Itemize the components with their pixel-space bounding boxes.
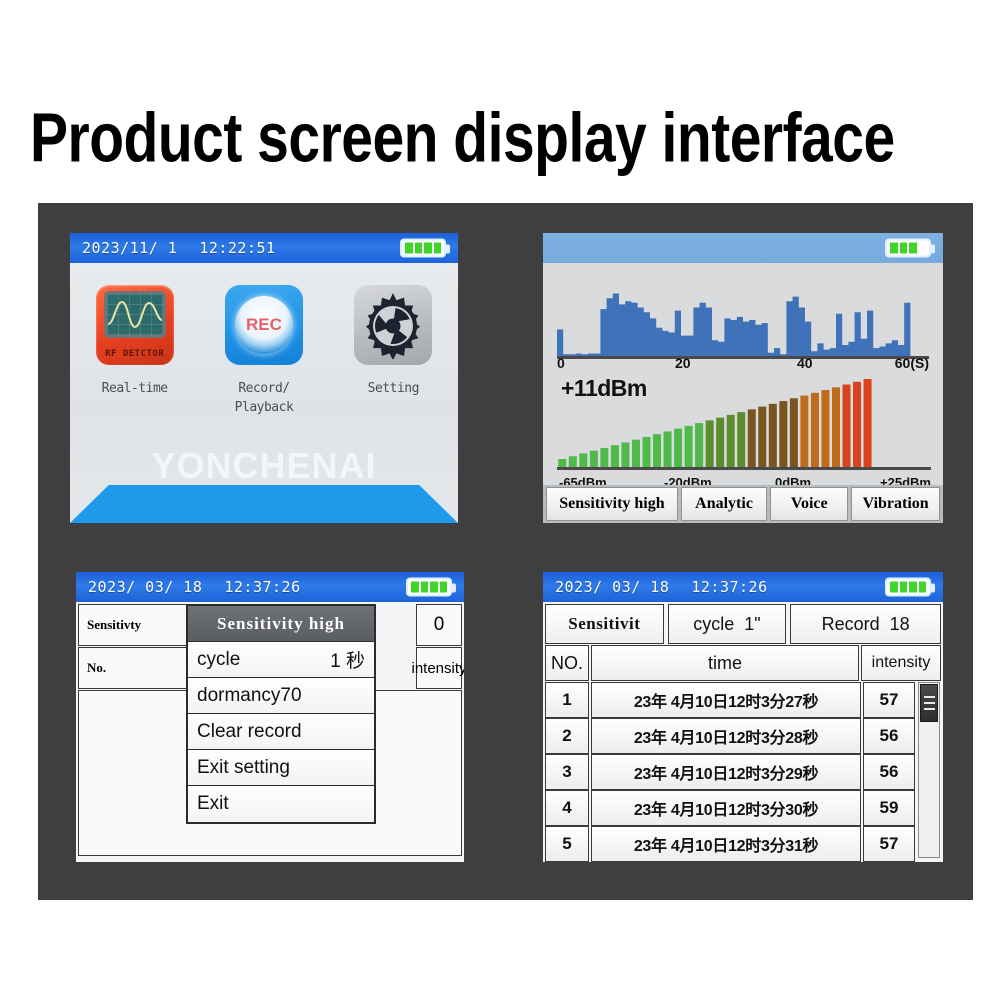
- axis-tick-60: 60(S): [895, 355, 929, 371]
- record-sensitivity-label: Sensitivit: [568, 614, 640, 634]
- setting-menu: Sensitivity high cycle 1 秒 dormancy70 Cl…: [186, 604, 376, 824]
- record-ring: REC: [235, 296, 293, 354]
- panel-realtime-screen: 0 20 40 60(S) +11dBm -65dBm -20dBm 0dBm …: [543, 233, 943, 523]
- menu-item-exit[interactable]: Exit: [188, 786, 374, 822]
- setting-row-sensitivity: Sensitivty: [78, 604, 196, 646]
- home-time: 12:22:51: [199, 239, 275, 257]
- record-cycle-tab[interactable]: cycle 1": [668, 604, 787, 644]
- menu-item-sensitivity-label: Sensitivity high: [217, 614, 345, 634]
- app-record-line2: Playback: [235, 400, 294, 415]
- page-title: Product screen display interface: [30, 98, 980, 179]
- realtime-button-bar: Sensitivity high Analytic Voice Vibratio…: [543, 485, 943, 523]
- setting-time: 12:37:26: [224, 578, 300, 596]
- menu-item-cycle-value: 1 秒: [330, 646, 365, 673]
- voice-button[interactable]: Voice: [770, 487, 848, 521]
- app-setting[interactable]: Setting: [339, 285, 447, 398]
- axis-tick-20: 20: [675, 355, 691, 371]
- record-time: 12:37:26: [691, 578, 767, 596]
- record-date: 2023/ 03/ 18: [555, 578, 669, 596]
- record-count-label: Record: [822, 614, 880, 635]
- record-scrollbar[interactable]: [918, 682, 940, 858]
- axis-tick-0: 0: [557, 355, 565, 371]
- table-row[interactable]: 323年 4月10日12时3分29秒56: [545, 754, 915, 790]
- grip-icon: [924, 696, 935, 710]
- home-statusbar: 2023/11/ 1 12:22:51: [70, 233, 458, 263]
- row-time: 23年 4月10日12时3分28秒: [591, 718, 861, 754]
- row-no: 1: [545, 682, 589, 718]
- record-toolbar: Sensitivit cycle 1" Record 18: [545, 604, 941, 644]
- column-header-intensity: intensity: [861, 645, 941, 681]
- realtime-statusbar: [543, 233, 943, 263]
- setting-statusbar: 2023/ 03/ 18 12:37:26: [76, 572, 464, 602]
- setting-body: Sensitivty No. 0 intensity Sensitivity h…: [76, 602, 464, 862]
- app-record-playback[interactable]: REC Record/ Playback: [210, 285, 318, 417]
- app-setting-label: Setting: [339, 379, 447, 398]
- menu-item-cycle[interactable]: cycle 1 秒: [188, 642, 374, 678]
- signal-waveform-chart: [557, 277, 929, 359]
- record-table-header: NO. time intensity: [545, 645, 941, 681]
- menu-item-clear-record[interactable]: Clear record: [188, 714, 374, 750]
- app-record-line1: Record/: [238, 381, 289, 396]
- battery-icon: [885, 578, 931, 597]
- realtime-body: 0 20 40 60(S) +11dBm -65dBm -20dBm 0dBm …: [543, 263, 943, 523]
- row-no: 2: [545, 718, 589, 754]
- row-no: 3: [545, 754, 589, 790]
- record-icon: REC: [225, 285, 303, 365]
- screenshot-board: 2023/11/ 1 12:22:51 RF DETCTOR Real-time: [38, 203, 973, 900]
- app-realtime[interactable]: RF DETCTOR Real-time: [81, 285, 189, 398]
- record-table-body: 123年 4月10日12时3分27秒57223年 4月10日12时3分28秒56…: [545, 682, 915, 860]
- dbm-reading: +11dBm: [561, 375, 647, 402]
- setting-label-no: No.: [79, 660, 106, 676]
- menu-item-dormancy[interactable]: dormancy70: [188, 678, 374, 714]
- setting-count-value: 0: [416, 604, 462, 646]
- app-record-label: Record/ Playback: [210, 379, 318, 417]
- setting-row-no: No.: [78, 647, 196, 689]
- menu-item-cycle-label: cycle: [197, 649, 240, 671]
- table-row[interactable]: 523年 4月10日12时3分31秒57: [545, 826, 915, 862]
- table-row[interactable]: 123年 4月10日12时3分27秒57: [545, 682, 915, 718]
- row-no: 5: [545, 826, 589, 862]
- sensitivity-button[interactable]: Sensitivity high: [546, 487, 678, 521]
- home-date: 2023/11/ 1: [82, 239, 177, 257]
- menu-item-sensitivity[interactable]: Sensitivity high: [188, 606, 374, 642]
- battery-icon: [885, 239, 931, 258]
- menu-item-exit-setting-label: Exit setting: [197, 757, 290, 779]
- rf-detector-caption: RF DETCTOR: [96, 349, 174, 359]
- table-row[interactable]: 223年 4月10日12时3分28秒56: [545, 718, 915, 754]
- setting-count-text: 0: [434, 614, 445, 636]
- home-footer-bar: [70, 485, 458, 523]
- record-cycle-value: 1": [744, 614, 760, 635]
- setting-date: 2023/ 03/ 18: [88, 578, 202, 596]
- home-body: RF DETCTOR Real-time REC Record/ Playbac…: [70, 263, 458, 523]
- record-body: Sensitivit cycle 1" Record 18 NO. time i…: [543, 602, 943, 862]
- scrollbar-thumb[interactable]: [920, 684, 938, 722]
- menu-item-exit-label: Exit: [197, 793, 229, 815]
- row-intensity: 59: [863, 790, 915, 826]
- panel-home-screen: 2023/11/ 1 12:22:51 RF DETCTOR Real-time: [70, 233, 458, 523]
- menu-item-clear-record-label: Clear record: [197, 721, 302, 743]
- row-no: 4: [545, 790, 589, 826]
- panel-record-screen: 2023/ 03/ 18 12:37:26 Sensitivit cycle 1…: [543, 572, 943, 862]
- analytic-button[interactable]: Analytic: [681, 487, 767, 521]
- panel-setting-screen: 2023/ 03/ 18 12:37:26 Sensitivty No. 0 i…: [76, 572, 464, 862]
- menu-item-exit-setting[interactable]: Exit setting: [188, 750, 374, 786]
- record-cycle-label: cycle: [693, 614, 734, 635]
- gear-icon: [354, 285, 432, 365]
- oscilloscope-screen: [104, 291, 166, 338]
- record-statusbar: 2023/ 03/ 18 12:37:26: [543, 572, 943, 602]
- setting-label-sensitivity: Sensitivty: [79, 617, 141, 633]
- home-app-row: RF DETCTOR Real-time REC Record/ Playbac…: [70, 285, 458, 417]
- row-intensity: 56: [863, 718, 915, 754]
- vibration-button[interactable]: Vibration: [851, 487, 940, 521]
- rf-detector-icon: RF DETCTOR: [96, 285, 174, 365]
- menu-item-dormancy-label: dormancy70: [197, 685, 302, 707]
- app-realtime-label: Real-time: [81, 379, 189, 398]
- row-intensity: 57: [863, 682, 915, 718]
- column-header-no: NO.: [545, 645, 589, 681]
- row-intensity: 57: [863, 826, 915, 862]
- watermark: YONCHENAI: [70, 445, 458, 487]
- column-header-time: time: [591, 645, 859, 681]
- setting-intensity-header: intensity: [416, 647, 462, 689]
- row-time: 23年 4月10日12时3分30秒: [591, 790, 861, 826]
- record-sensitivity-tab[interactable]: Sensitivit: [545, 604, 664, 644]
- row-time: 23年 4月10日12时3分27秒: [591, 682, 861, 718]
- rec-label: REC: [246, 315, 282, 335]
- row-time: 23年 4月10日12时3分29秒: [591, 754, 861, 790]
- record-count-tab[interactable]: Record 18: [790, 604, 941, 644]
- row-time: 23年 4月10日12时3分31秒: [591, 826, 861, 862]
- table-row[interactable]: 423年 4月10日12时3分30秒59: [545, 790, 915, 826]
- battery-icon: [400, 239, 446, 258]
- record-count-value: 18: [890, 614, 910, 635]
- setting-intensity-text: intensity: [411, 660, 464, 677]
- axis-tick-40: 40: [797, 355, 813, 371]
- battery-icon: [406, 578, 452, 597]
- row-intensity: 56: [863, 754, 915, 790]
